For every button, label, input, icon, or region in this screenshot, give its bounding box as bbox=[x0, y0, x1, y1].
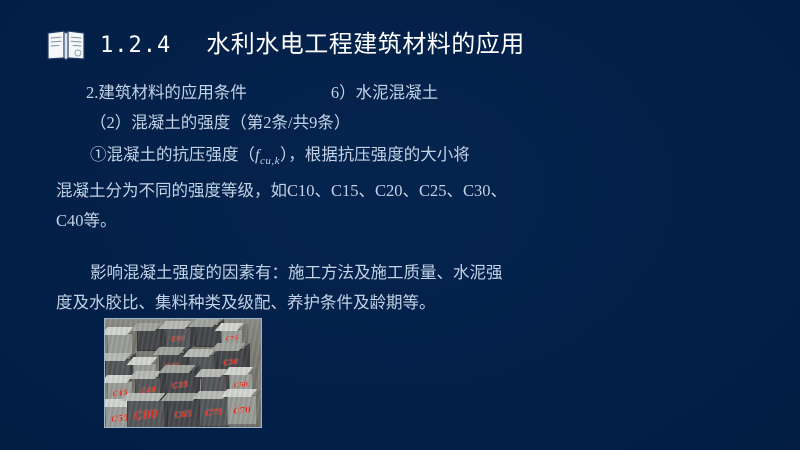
cube-label: C80 bbox=[133, 407, 158, 423]
slide-body: 2.建筑材料的应用条件 6）水泥混凝土 （2）混凝土的强度（第2条/共9条） ①… bbox=[56, 78, 586, 318]
paragraph-2-line-2: 度及水胶比、集料种类及级配、养护条件及龄期等。 bbox=[56, 288, 586, 318]
paragraph-1-line-1: ①混凝土的抗压强度（fcu,k），根据抗压强度的大小将 bbox=[56, 140, 586, 176]
paragraph-1: ①混凝土的抗压强度（fcu,k），根据抗压强度的大小将 混凝土分为不同的强度等级… bbox=[56, 140, 586, 236]
paragraph-1-part-2: ），根据抗压强度的大小将 bbox=[280, 145, 470, 164]
page-title: 1.2.4 水利水电工程建筑材料的应用 bbox=[100, 33, 525, 57]
paragraph-1-line-2: 混凝土分为不同的强度等级，如C10、C15、C20、C25、C30、 bbox=[56, 176, 586, 206]
cube-specimen: C75 bbox=[199, 397, 229, 427]
formula-subscript: cu,k bbox=[260, 155, 280, 167]
slide-canvas: 1.2.4 水利水电工程建筑材料的应用 2.建筑材料的应用条件 6）水泥混凝土 … bbox=[0, 0, 800, 450]
concrete-cube-specimens-photo: C50 C75 C40 C30 C45 C40 C35 C50 bbox=[104, 318, 262, 428]
cube-label: C75 bbox=[205, 406, 224, 418]
paragraph-spacer bbox=[56, 236, 586, 256]
open-book-icon bbox=[46, 29, 86, 61]
heading-left: 2.建筑材料的应用条件 bbox=[56, 78, 247, 108]
cube-specimen: C80 bbox=[127, 399, 165, 427]
paragraph-2-line-1: 影响混凝土强度的因素有：施工方法及施工质量、水泥强 bbox=[56, 258, 586, 288]
photo-content: C50 C75 C40 C30 C45 C40 C35 C50 bbox=[105, 319, 261, 427]
paragraph-1-part-1: ①混凝土的抗压强度（ bbox=[90, 145, 255, 164]
cube-label: C75 bbox=[226, 335, 239, 342]
cube-label: C30 bbox=[223, 357, 239, 368]
formula-fcuk: fcu,k bbox=[255, 147, 280, 164]
cube-label: C50 bbox=[171, 335, 185, 344]
cube-label: C35 bbox=[171, 380, 188, 391]
cube-label: C65 bbox=[174, 408, 193, 420]
cube-specimen: C70 bbox=[227, 395, 257, 425]
title-label: 水利水电工程建筑材料的应用 bbox=[206, 32, 525, 58]
heading-right: 6）水泥混凝土 bbox=[247, 78, 438, 108]
cube-label: C70 bbox=[233, 404, 252, 416]
heading-row: 2.建筑材料的应用条件 6）水泥混凝土 bbox=[56, 78, 586, 108]
cube-specimen: C65 bbox=[167, 399, 199, 427]
cube-specimen bbox=[107, 333, 133, 355]
title-number: 1.2.4 bbox=[100, 33, 171, 58]
paragraph-2: 影响混凝土强度的因素有：施工方法及施工质量、水泥强 度及水胶比、集料种类及级配、… bbox=[56, 258, 586, 318]
paragraph-1-line-3: C40等。 bbox=[56, 206, 586, 236]
subheading: （2）混凝土的强度（第2条/共9条） bbox=[56, 108, 586, 138]
slide-title-row: 1.2.4 水利水电工程建筑材料的应用 bbox=[46, 22, 525, 68]
